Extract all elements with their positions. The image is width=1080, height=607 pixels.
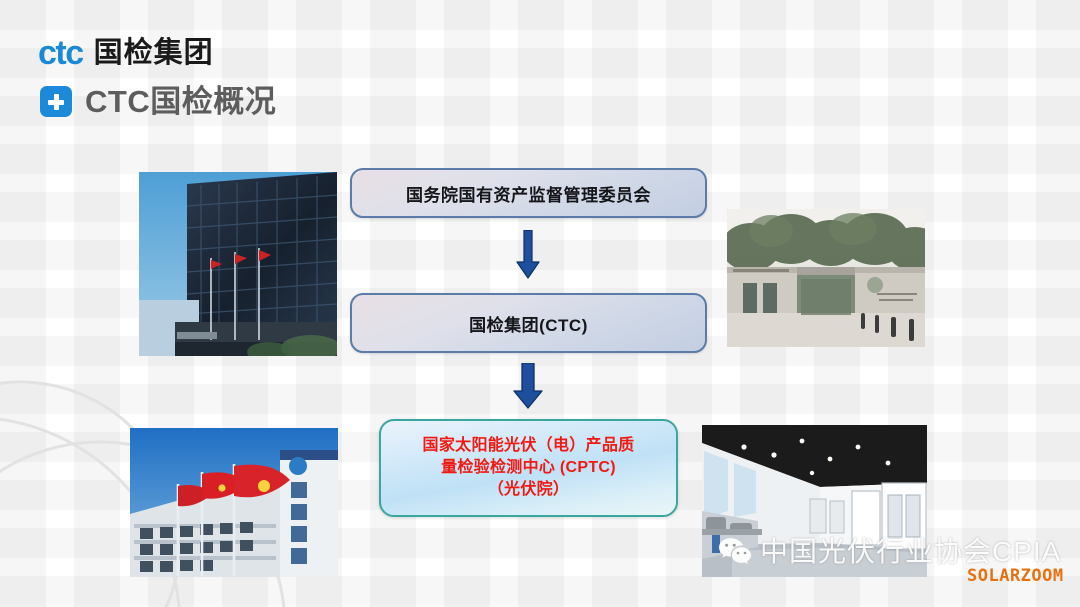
photo-gate [727,209,925,347]
flow-node-cptc-line-1: 国家太阳能光伏（电）产品质 [423,435,635,457]
flow-node-cptc-line-2: 量检验检测中心 (CPTC) [441,457,616,479]
page-title: CTC国检概况 [40,86,276,117]
flow-node-sasac-label: 国务院国有资产监督管理委员会 [406,181,651,206]
ctc-logo-mark: ctc [38,36,83,70]
photo-flags [130,428,338,577]
flow-node-cptc-line-3: （光伏院） [488,479,570,501]
photo-building [139,172,337,356]
flow-node-sasac: 国务院国有资产监督管理委员会 [350,168,707,218]
brand-name-label: 国检集团 [94,39,214,68]
arrow-down-icon [510,230,546,282]
arrow-down-icon [508,363,548,411]
page-title-label: CTC国检概况 [85,86,276,117]
flow-node-ctc: 国检集团(CTC) [350,293,707,353]
flow-node-cptc: 国家太阳能光伏（电）产品质 量检验检测中心 (CPTC) （光伏院） [379,419,678,517]
plus-badge-icon [40,86,72,117]
slide-canvas: ctc 国检集团 CTC国检概况 [0,0,1080,607]
brand-logo: ctc 国检集团 [38,36,214,70]
solarzoom-source-tag: SOLARZOOM [967,568,1064,585]
photo-lab [702,425,927,577]
flow-node-ctc-label: 国检集团(CTC) [469,311,588,336]
